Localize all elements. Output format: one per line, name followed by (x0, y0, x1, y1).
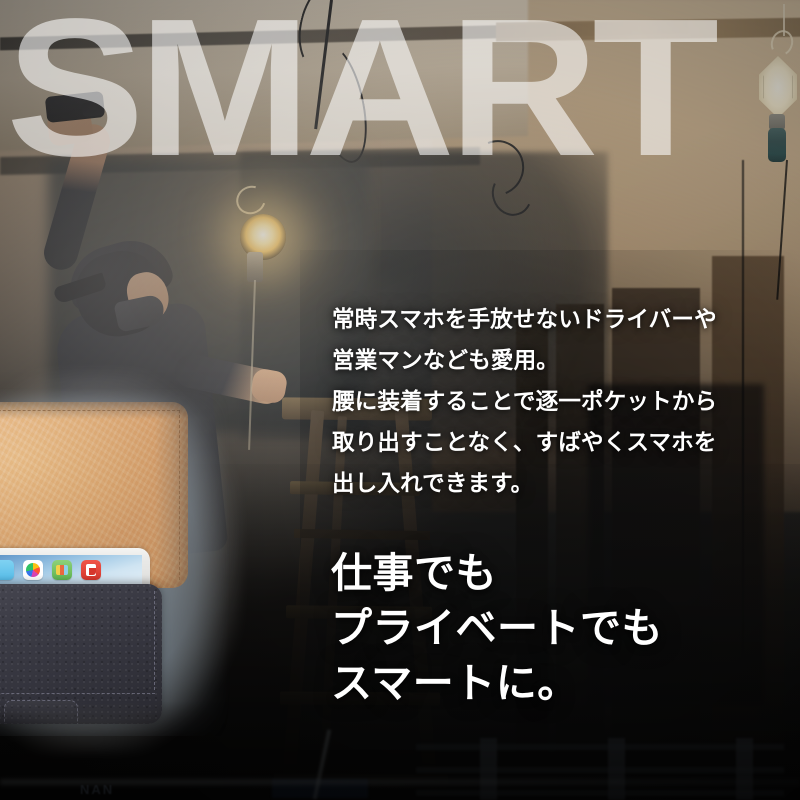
shelf-post (608, 738, 625, 800)
body-copy-line: 腰に装着することで逐一ポケットから (332, 381, 772, 422)
stitching (179, 410, 180, 580)
photos-icon (23, 560, 43, 580)
shelf-rail (416, 744, 784, 750)
product-photo-holster (0, 388, 230, 736)
stitching (0, 410, 180, 411)
crate-label: NAN (80, 782, 114, 797)
promo-banner: NAN SMART (0, 0, 800, 800)
weather-icon (0, 560, 14, 580)
headline: 仕事でも プライベートでも スマートに。 (331, 546, 663, 711)
light-grip (768, 128, 786, 162)
shelf-rail (416, 767, 784, 773)
stitching (154, 591, 155, 690)
dark-leather-pocket (0, 584, 162, 724)
body-copy-line: 常時スマホを手放せないドライバーや (332, 299, 772, 340)
shelf-post (736, 738, 753, 800)
phone-app-icons (0, 557, 140, 583)
hanging-work-light-icon (757, 42, 800, 172)
red-app-icon (81, 560, 101, 580)
body-copy-line: 出し入れできます。 (332, 463, 772, 504)
product-inner (0, 388, 230, 736)
body-copy: 常時スマホを手放せないドライバーや 営業マンなども愛用。 腰に装着することで逐一… (332, 299, 772, 504)
pipe (0, 779, 800, 785)
power-tool-head (81, 101, 104, 117)
headline-line: 仕事でも (331, 546, 663, 601)
shelf-post (480, 738, 497, 800)
light-cage (759, 56, 797, 118)
body-copy-line: 営業マンなども愛用。 (332, 340, 772, 381)
body-copy-line: 取り出すことなく、すばやくスマホを (332, 422, 772, 463)
shelf-rail (416, 790, 784, 796)
stitching (0, 693, 155, 694)
headline-line: プライベートでも (331, 601, 663, 656)
headline-line: スマートに。 (331, 656, 663, 711)
bulb-socket (247, 252, 263, 282)
app-store-icon (52, 560, 72, 580)
thumb-notch (4, 700, 78, 724)
